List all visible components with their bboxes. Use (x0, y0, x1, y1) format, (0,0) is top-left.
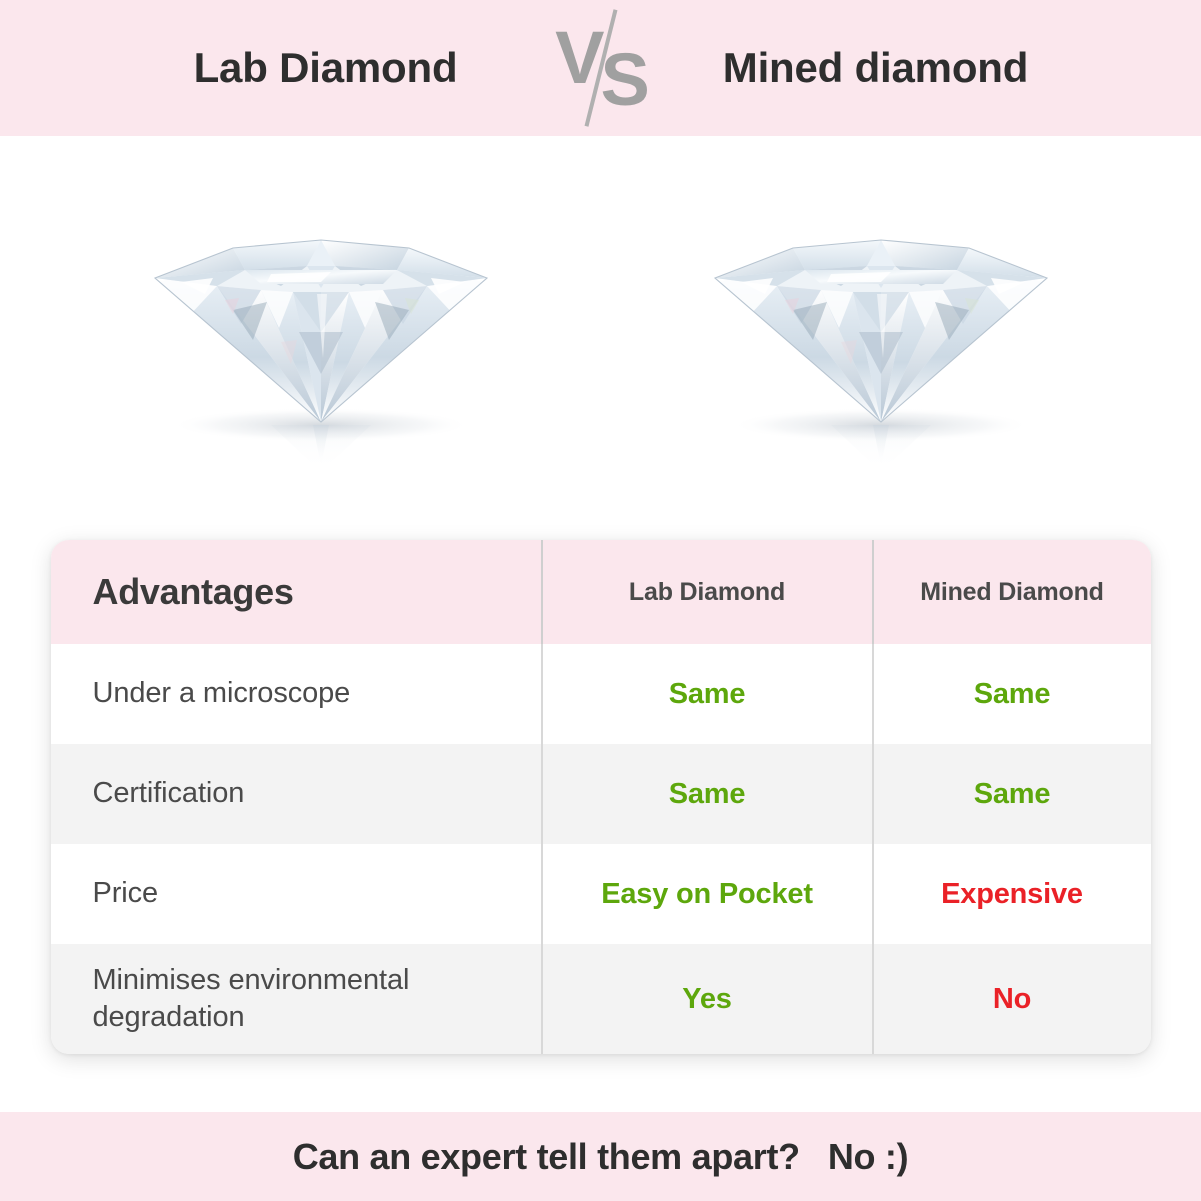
header-label-mined: Mined Diamond (920, 578, 1104, 607)
table-row: Under a microscope Same Same (51, 644, 1151, 744)
row-value-mined: Same (974, 778, 1051, 811)
header-label-lab: Lab Diamond (629, 578, 785, 607)
header-label-advantages: Advantages (93, 571, 294, 613)
row-label: Under a microscope (93, 675, 351, 712)
table-row: Certification Same Same (51, 744, 1151, 844)
diamond-mined (681, 182, 1081, 482)
row-value-lab: Easy on Pocket (601, 878, 813, 911)
lab-diamond-icon (121, 182, 521, 482)
diamond-lab (121, 182, 521, 482)
mined-diamond-icon (681, 182, 1081, 482)
row-value-lab-cell: Same (541, 744, 872, 844)
vs-letter-s: S (601, 43, 646, 117)
footer-band: Can an expert tell them apart? No :) (0, 1112, 1201, 1201)
table-row: Minimises environmental degradation Yes … (51, 944, 1151, 1054)
row-value-lab: Same (669, 678, 746, 711)
comparison-card-zone: Advantages Lab Diamond Mined Diamond Und… (0, 528, 1201, 1112)
header-cell-lab: Lab Diamond (541, 540, 872, 644)
row-value-mined-cell: No (872, 944, 1151, 1054)
row-value-mined: No (993, 983, 1031, 1016)
row-label-cell: Price (51, 844, 541, 944)
row-value-mined-cell: Expensive (872, 844, 1151, 944)
comparison-table: Advantages Lab Diamond Mined Diamond Und… (51, 540, 1151, 1054)
header-cell-mined: Mined Diamond (872, 540, 1151, 644)
footer-answer: No :) (828, 1136, 908, 1178)
header-cell-advantages: Advantages (51, 540, 541, 644)
row-value-mined-cell: Same (872, 744, 1151, 844)
row-value-lab-cell: Same (541, 644, 872, 744)
table-row: Price Easy on Pocket Expensive (51, 844, 1151, 944)
row-label: Certification (93, 775, 245, 812)
row-value-mined: Expensive (941, 878, 1083, 911)
row-value-lab-cell: Yes (541, 944, 872, 1054)
row-value-lab-cell: Easy on Pocket (541, 844, 872, 944)
row-value-lab: Same (669, 778, 746, 811)
header-title-lab: Lab Diamond (111, 44, 541, 92)
diamond-stage (0, 136, 1201, 528)
header-title-mined: Mined diamond (661, 44, 1091, 92)
row-label: Price (93, 875, 159, 912)
row-label: Minimises environmental degradation (93, 962, 523, 1036)
row-value-lab: Yes (682, 983, 731, 1016)
row-label-cell: Certification (51, 744, 541, 844)
infographic-page: Lab Diamond VS Mined diamond (0, 0, 1201, 1201)
row-label-cell: Minimises environmental degradation (51, 944, 541, 1054)
header-band: Lab Diamond VS Mined diamond (0, 0, 1201, 136)
row-value-mined-cell: Same (872, 644, 1151, 744)
row-label-cell: Under a microscope (51, 644, 541, 744)
vs-badge: VS (541, 4, 661, 132)
footer-question: Can an expert tell them apart? (293, 1136, 800, 1178)
row-value-mined: Same (974, 678, 1051, 711)
table-header-row: Advantages Lab Diamond Mined Diamond (51, 540, 1151, 644)
vs-letter-v: V (555, 21, 600, 95)
